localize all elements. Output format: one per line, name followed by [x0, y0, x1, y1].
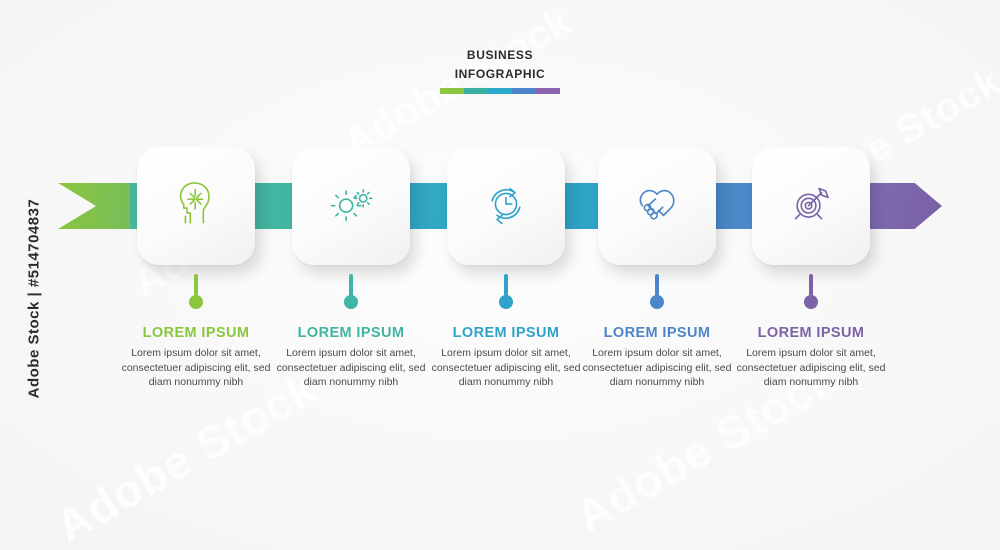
gears-icon [325, 178, 377, 235]
step-body-1: Lorem ipsum dolor sit amet, consectetuer… [121, 346, 271, 390]
connector-dot [499, 295, 513, 309]
step-text-column-3: LOREM IPSUMLorem ipsum dolor sit amet, c… [431, 325, 581, 390]
connector-dot [650, 295, 664, 309]
step-connector-2 [344, 274, 358, 309]
step-heading-5: LOREM IPSUM [736, 325, 886, 341]
title-gradient-underline [440, 88, 560, 94]
infographic-canvas: Adobe Stock Adobe Stock Adobe Stock Adob… [0, 0, 1000, 550]
connector-stem [504, 274, 508, 296]
ribbon-segment-1-green [58, 183, 130, 229]
step-body-5: Lorem ipsum dolor sit amet, consectetuer… [736, 346, 886, 390]
watermark-sidebar-label: Adobe Stock | #514704837 [26, 169, 43, 429]
title-underline-segment-3 [488, 88, 512, 94]
ribbon-segment-5-purple [870, 183, 942, 229]
clock-refresh-icon [480, 178, 532, 235]
step-text-column-2: LOREM IPSUMLorem ipsum dolor sit amet, c… [276, 325, 426, 390]
title-underline-segment-4 [512, 88, 536, 94]
page-title-line-2: Infographic [0, 63, 1000, 82]
connector-stem [194, 274, 198, 296]
step-connector-5 [804, 274, 818, 309]
title-underline-segment-5 [536, 88, 560, 94]
connector-stem [655, 274, 659, 296]
connector-stem [349, 274, 353, 296]
step-card-4[interactable] [598, 147, 716, 265]
step-text-column-1: LOREM IPSUMLorem ipsum dolor sit amet, c… [121, 325, 271, 390]
connector-dot [344, 295, 358, 309]
step-card-3[interactable] [447, 147, 565, 265]
step-text-column-4: LOREM IPSUMLorem ipsum dolor sit amet, c… [582, 325, 732, 390]
head-idea-icon [170, 178, 222, 235]
title-underline-segment-1 [440, 88, 464, 94]
page-title-line-1: Business [0, 44, 1000, 63]
step-connector-1 [189, 274, 203, 309]
page-title: Business Infographic [0, 44, 1000, 94]
step-connector-4 [650, 274, 664, 309]
step-card-1[interactable] [137, 147, 255, 265]
step-heading-2: LOREM IPSUM [276, 325, 426, 341]
connector-dot [189, 295, 203, 309]
step-heading-3: LOREM IPSUM [431, 325, 581, 341]
step-card-2[interactable] [292, 147, 410, 265]
step-body-3: Lorem ipsum dolor sit amet, consectetuer… [431, 346, 581, 390]
connector-stem [809, 274, 813, 296]
step-card-5[interactable] [752, 147, 870, 265]
step-text-column-5: LOREM IPSUMLorem ipsum dolor sit amet, c… [736, 325, 886, 390]
step-body-4: Lorem ipsum dolor sit amet, consectetuer… [582, 346, 732, 390]
step-body-2: Lorem ipsum dolor sit amet, consectetuer… [276, 346, 426, 390]
step-heading-1: LOREM IPSUM [121, 325, 271, 341]
target-arrow-icon [785, 178, 837, 235]
step-heading-4: LOREM IPSUM [582, 325, 732, 341]
handshake-icon [631, 178, 683, 235]
connector-dot [804, 295, 818, 309]
title-underline-segment-2 [464, 88, 488, 94]
step-connector-3 [499, 274, 513, 309]
